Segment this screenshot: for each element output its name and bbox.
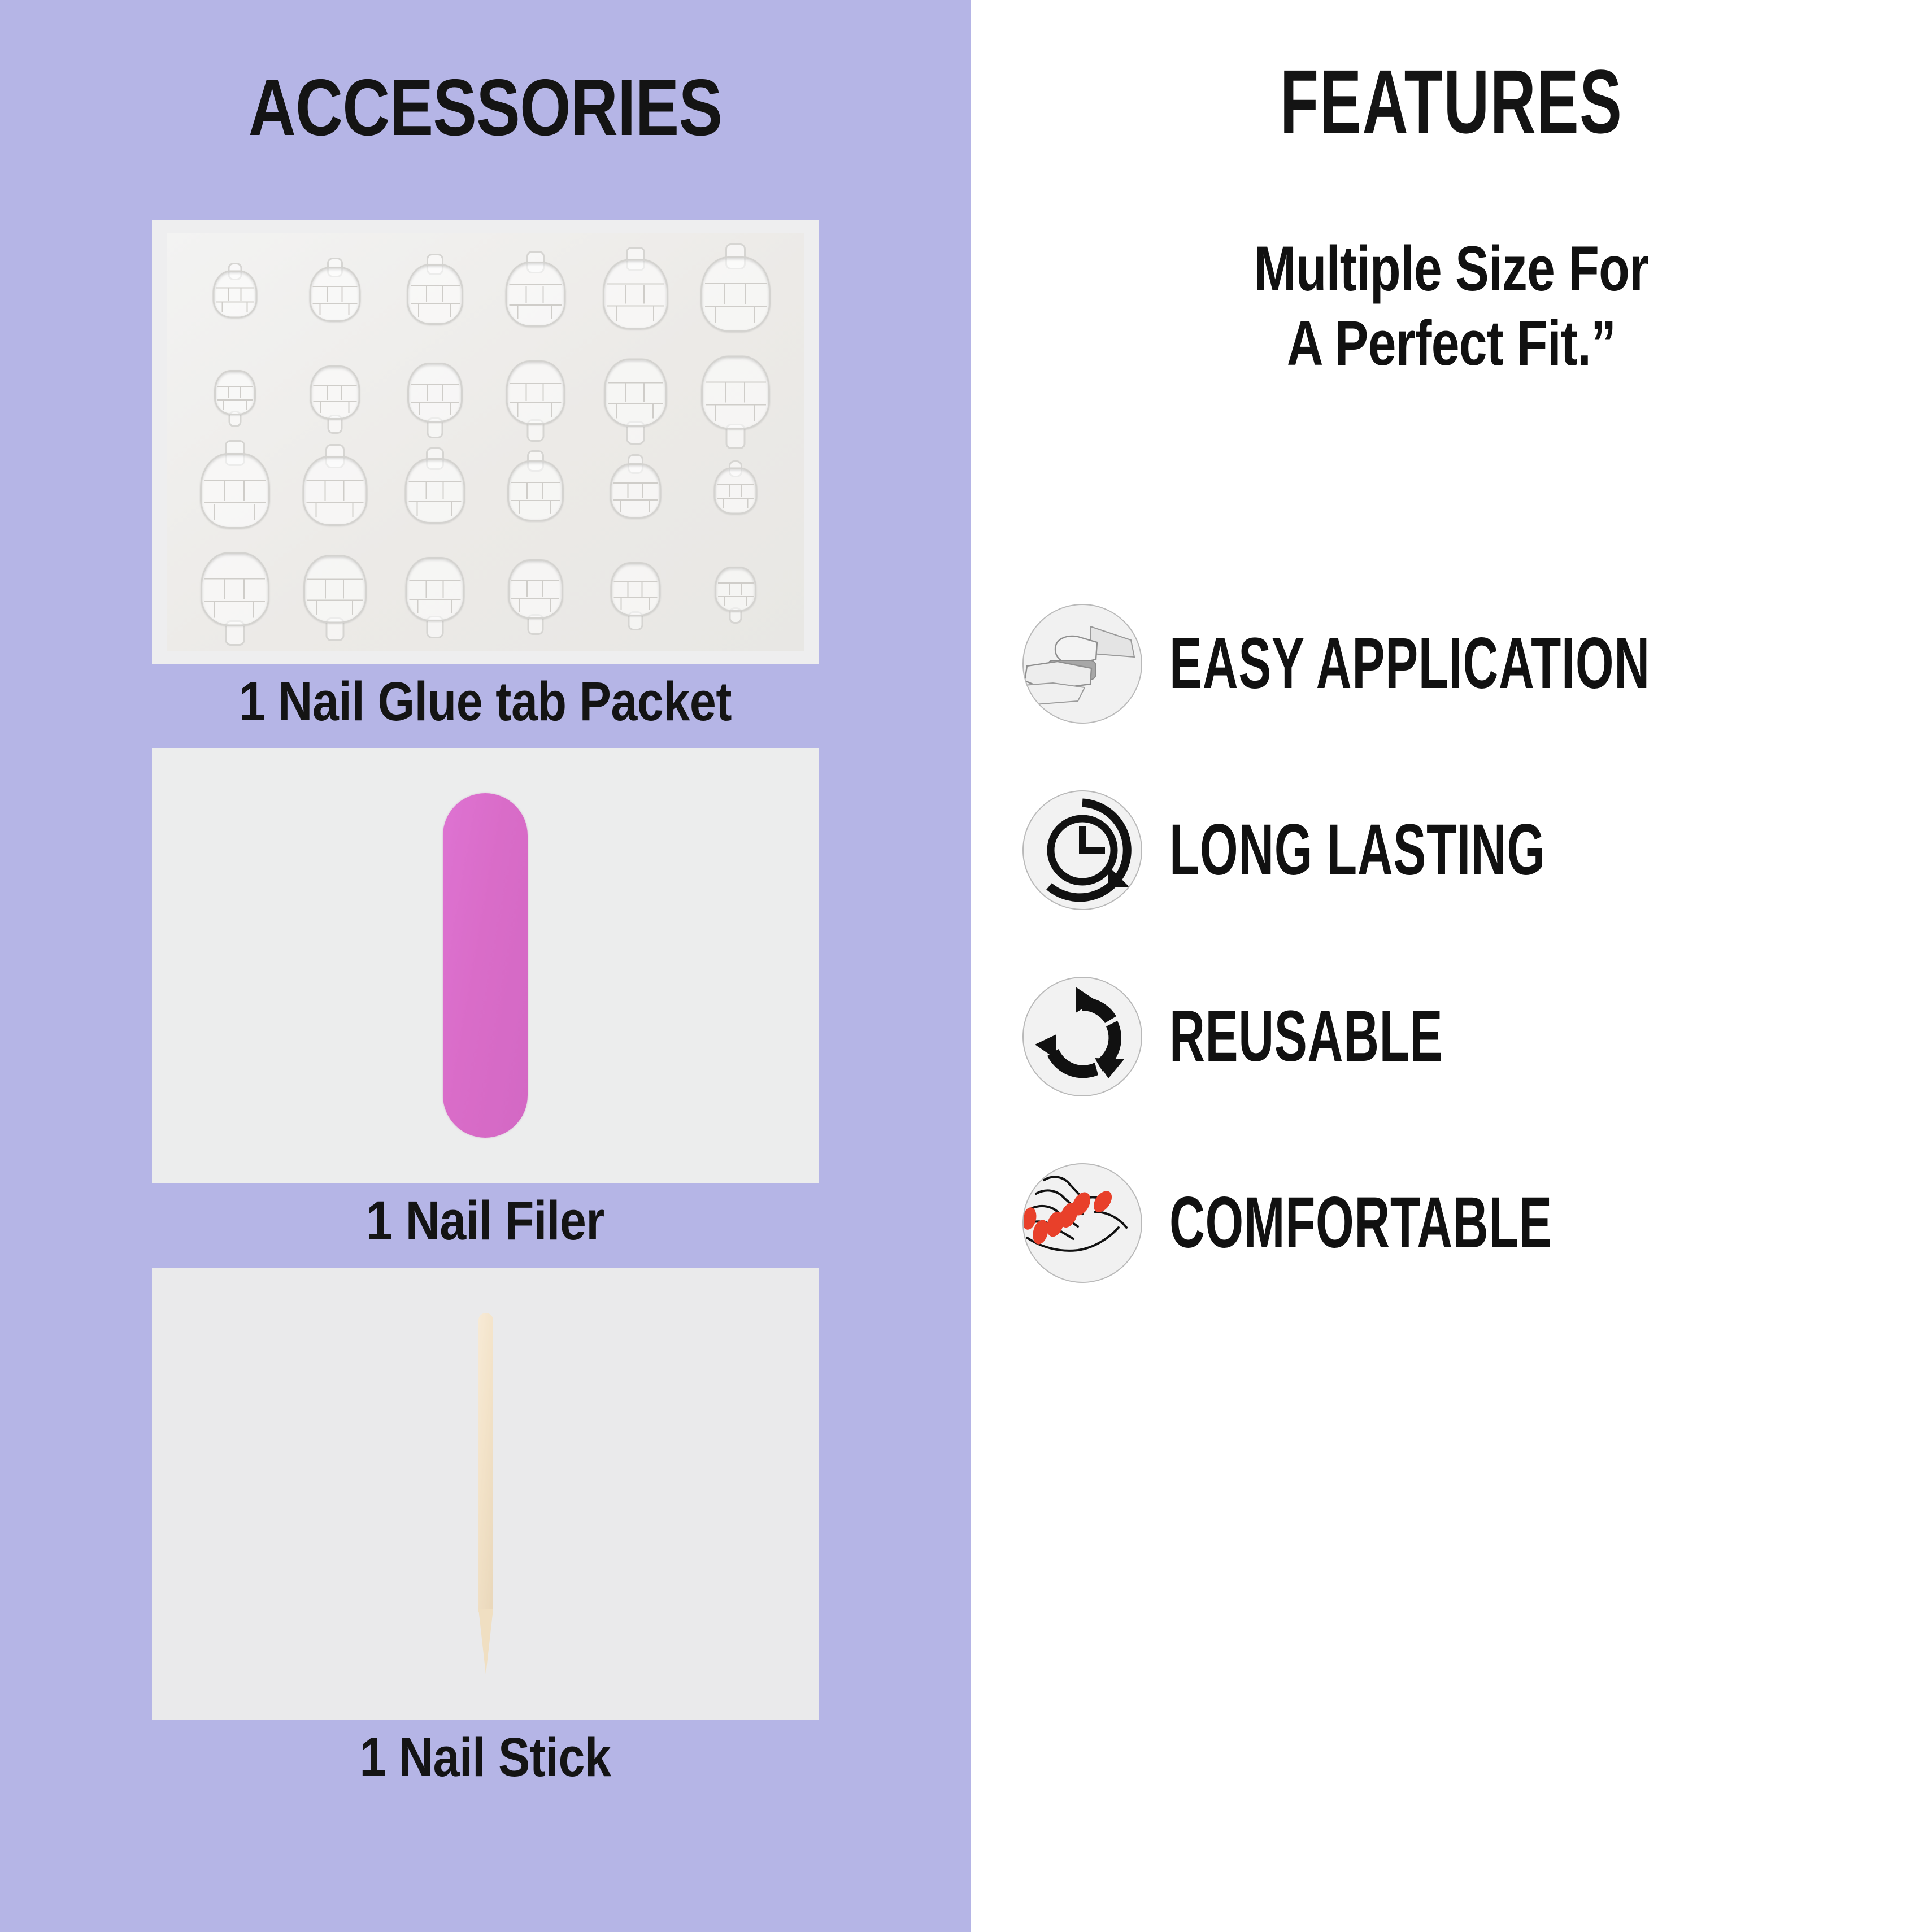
glue-tab	[486, 541, 584, 637]
glue-tab-pad	[508, 559, 563, 619]
glue-tab-scoring-lines	[716, 469, 756, 513]
glue-tab-pad	[212, 271, 257, 319]
glue-tab	[586, 345, 684, 441]
glue-tab	[286, 246, 384, 342]
glue-tab-pad	[507, 460, 564, 521]
pink-nail-file-icon	[443, 793, 528, 1138]
glue-tab-pad	[302, 456, 367, 526]
glue-tab	[286, 443, 384, 539]
glue-tab-pad	[714, 468, 758, 515]
glue-tab-pad	[406, 557, 465, 621]
glue-tab	[186, 443, 284, 539]
glue-tab	[586, 443, 684, 539]
glue-tab-pad	[201, 552, 269, 626]
feature-label-easy-application: EASY APPLICATION	[1169, 628, 1650, 700]
glue-tab-pad	[700, 256, 771, 332]
glue-tab-scoring-lines	[611, 465, 659, 517]
nail-glue-tab-sheet-photo	[152, 220, 819, 664]
glue-tab-grid	[186, 246, 785, 637]
product-infographic: ACCESSORIES 1 Nail Glue tab Packet 1 Nai…	[0, 0, 1932, 1932]
glue-tab-scoring-lines	[702, 258, 769, 330]
glue-tab-pad	[610, 562, 660, 616]
feature-label-long-lasting: LONG LASTING	[1169, 814, 1546, 886]
glue-tab-pad	[405, 458, 465, 524]
glue-tab	[687, 443, 785, 539]
glue-tab-scoring-lines	[407, 559, 463, 620]
glue-tab-scoring-lines	[311, 268, 359, 320]
glue-tab-pad	[604, 359, 667, 427]
nail-filer-photo	[152, 748, 819, 1183]
recycle-arrows-icon	[1022, 977, 1142, 1096]
glue-tab	[687, 541, 785, 637]
feature-label-reusable: REUSABLE	[1169, 1000, 1443, 1073]
accessory-caption-glue-tabs: 1 Nail Glue tab Packet	[195, 664, 776, 736]
glue-tab-scoring-lines	[604, 261, 667, 328]
glue-tab-pad	[715, 567, 756, 612]
glue-tab-pad	[407, 363, 463, 423]
accessory-item-glue-tabs: 1 Nail Glue tab Packet	[152, 220, 819, 736]
glue-tab-scoring-lines	[716, 568, 755, 610]
glue-tab-scoring-lines	[409, 364, 461, 421]
stick-tip	[478, 1609, 493, 1674]
accessory-item-nail-stick: 1 Nail Stick	[152, 1268, 819, 1791]
glue-tab	[586, 246, 684, 342]
glue-tab-scoring-lines	[408, 266, 462, 323]
glue-tab	[186, 541, 284, 637]
glue-tab-scoring-lines	[311, 367, 358, 418]
glue-tab-scoring-lines	[606, 360, 665, 425]
glue-tab-pad	[505, 262, 565, 327]
glue-tab-sheet	[167, 233, 804, 651]
glue-tab-pad	[303, 555, 367, 624]
glue-tab	[286, 345, 384, 441]
glue-tab-scoring-lines	[214, 272, 255, 317]
glue-tab-pad	[610, 463, 661, 519]
glue-tab-pad	[701, 356, 770, 430]
glue-tab	[386, 345, 484, 441]
clock-with-arrow-icon	[1022, 790, 1142, 910]
accessory-caption-nail-filer: 1 Nail Filer	[195, 1183, 776, 1255]
glue-tab	[386, 246, 484, 342]
glue-tab	[486, 443, 584, 539]
feature-row-comfortable: COMFORTABLE	[971, 1130, 1932, 1316]
features-panel: FEATURES Multiple Size For A Perfect Fit…	[971, 0, 1932, 1932]
glue-tab-pad	[603, 259, 668, 330]
glue-tab-scoring-lines	[304, 458, 365, 524]
glue-tab-pad	[407, 264, 463, 325]
glue-tab-pad	[214, 370, 256, 415]
glue-tab-scoring-lines	[507, 263, 564, 325]
glue-tab	[386, 443, 484, 539]
accessories-list: 1 Nail Glue tab Packet 1 Nail Filer 1 Na…	[0, 220, 971, 1804]
glue-tab-scoring-lines	[216, 372, 254, 414]
features-tagline: Multiple Size For A Perfect Fit.”	[1067, 232, 1836, 381]
feature-row-reusable: REUSABLE	[971, 943, 1932, 1130]
accessory-caption-nail-stick: 1 Nail Stick	[195, 1720, 776, 1791]
feature-row-long-lasting: LONG LASTING	[971, 757, 1932, 943]
glue-tab	[687, 246, 785, 342]
glue-tab	[486, 345, 584, 441]
nail-stick-photo	[152, 1268, 819, 1720]
feature-row-easy-application: EASY APPLICATION	[971, 571, 1932, 757]
features-title: FEATURES	[1115, 0, 1787, 147]
tagline-line-2: A Perfect Fit.”	[1067, 306, 1836, 381]
glue-tab	[186, 345, 284, 441]
glue-tab	[687, 345, 785, 441]
glue-tab-scoring-lines	[305, 557, 365, 622]
glue-tab	[186, 246, 284, 342]
glue-tab	[286, 541, 384, 637]
stick-body	[478, 1313, 493, 1612]
accessories-title: ACCESSORIES	[88, 0, 884, 148]
accessories-panel: ACCESSORIES 1 Nail Glue tab Packet 1 Nai…	[0, 0, 971, 1932]
glue-tab-scoring-lines	[612, 564, 659, 615]
glue-tab-scoring-lines	[202, 455, 268, 527]
glue-tab-scoring-lines	[510, 561, 562, 617]
tagline-line-1: Multiple Size For	[1067, 232, 1836, 306]
two-hands-with-painted-nails-icon	[1022, 1163, 1142, 1283]
glue-tab-pad	[309, 267, 360, 322]
feature-label-comfortable: COMFORTABLE	[1169, 1187, 1552, 1259]
glue-tab-scoring-lines	[509, 462, 562, 520]
glue-tab-scoring-lines	[703, 358, 768, 428]
glue-tab	[386, 541, 484, 637]
glue-tab	[586, 541, 684, 637]
wooden-cuticle-stick-icon	[472, 1313, 498, 1674]
accessory-item-nail-filer: 1 Nail Filer	[152, 748, 819, 1255]
glue-tab-scoring-lines	[507, 362, 563, 423]
glue-tab-scoring-lines	[407, 460, 464, 522]
finger-pressing-nail-icon	[1022, 604, 1142, 724]
features-list: EASY APPLICATION LONG LASTING	[971, 571, 1932, 1316]
glue-tab	[486, 246, 584, 342]
glue-tab-pad	[310, 365, 360, 420]
glue-tab-pad	[200, 453, 270, 529]
glue-tab-scoring-lines	[202, 554, 268, 625]
glue-tab-pad	[506, 360, 565, 425]
